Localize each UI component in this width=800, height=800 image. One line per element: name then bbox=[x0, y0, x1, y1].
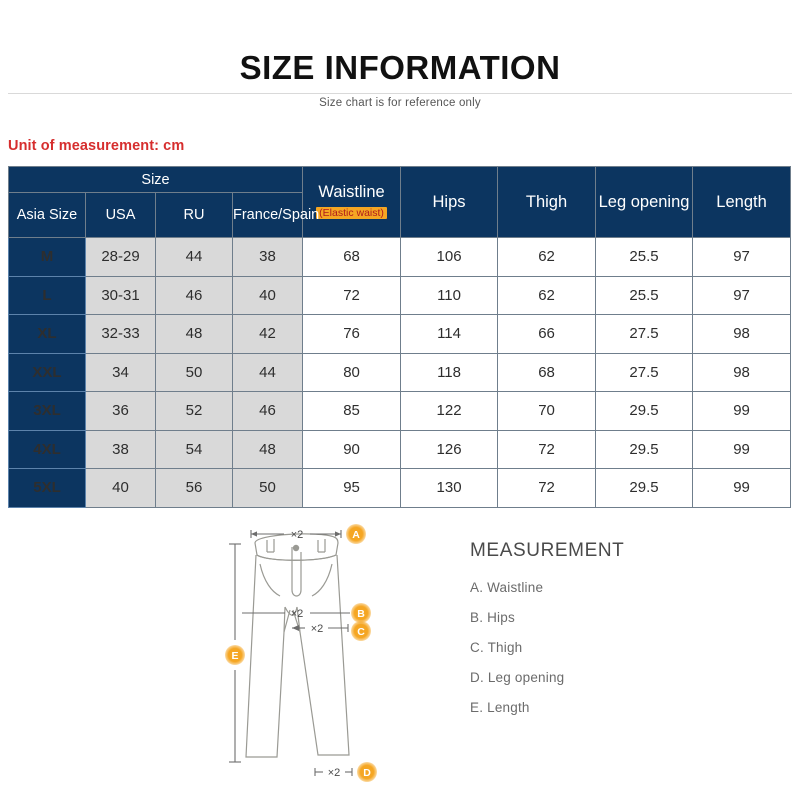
header-waistline: Waistline (Elastic waist) bbox=[303, 167, 401, 238]
cell-thigh: 72 bbox=[498, 469, 596, 508]
cell-usa: 36 bbox=[86, 392, 156, 431]
badge-c-label: C bbox=[357, 626, 365, 638]
cell-waistline: 85 bbox=[303, 392, 401, 431]
cell-france-spain: 46 bbox=[233, 392, 303, 431]
header-hips: Hips bbox=[401, 167, 498, 238]
pants-measurement-diagram: ×2 ×2 ×2 ×2 bbox=[222, 512, 422, 800]
unit-of-measurement-note: Unit of measurement: cm bbox=[8, 138, 184, 154]
cell-hips: 130 bbox=[401, 469, 498, 508]
elastic-waist-badge: (Elastic waist) bbox=[316, 207, 387, 219]
badge-b-label: B bbox=[357, 608, 365, 620]
cell-leg-opening: 25.5 bbox=[596, 238, 693, 277]
title-divider bbox=[8, 93, 792, 94]
header-length: Length bbox=[693, 167, 791, 238]
cell-ru: 54 bbox=[156, 430, 233, 469]
dimension-label-d: ×2 bbox=[328, 767, 341, 779]
table-row: L30-314640721106225.597 bbox=[9, 276, 791, 315]
cell-waistline: 76 bbox=[303, 315, 401, 354]
header-leg-opening: Leg opening bbox=[596, 167, 693, 238]
cell-thigh: 68 bbox=[498, 353, 596, 392]
cell-length: 98 bbox=[693, 353, 791, 392]
cell-asia-size: XL bbox=[9, 315, 86, 354]
legend-item-leg-opening: D. Leg opening bbox=[470, 670, 780, 685]
cell-length: 98 bbox=[693, 315, 791, 354]
cell-leg-opening: 25.5 bbox=[596, 276, 693, 315]
dimension-label-c: ×2 bbox=[311, 623, 324, 635]
header-asia-size: Asia Size bbox=[9, 193, 86, 238]
cell-ru: 50 bbox=[156, 353, 233, 392]
cell-length: 97 bbox=[693, 238, 791, 277]
cell-usa: 38 bbox=[86, 430, 156, 469]
cell-length: 99 bbox=[693, 469, 791, 508]
table-row: 4XL385448901267229.599 bbox=[9, 430, 791, 469]
header-ru: RU bbox=[156, 193, 233, 238]
table-header: Size Waistline (Elastic waist) Hips Thig… bbox=[9, 167, 791, 238]
size-information-page: SIZE INFORMATION Size chart is for refer… bbox=[0, 0, 800, 800]
cell-leg-opening: 27.5 bbox=[596, 353, 693, 392]
cell-thigh: 70 bbox=[498, 392, 596, 431]
cell-asia-size: M bbox=[9, 238, 86, 277]
cell-france-spain: 38 bbox=[233, 238, 303, 277]
table-body: M28-294438681066225.597L30-3146407211062… bbox=[9, 238, 791, 508]
cell-length: 99 bbox=[693, 430, 791, 469]
cell-hips: 110 bbox=[401, 276, 498, 315]
cell-asia-size: L bbox=[9, 276, 86, 315]
cell-thigh: 62 bbox=[498, 276, 596, 315]
cell-asia-size: 5XL bbox=[9, 469, 86, 508]
title-block: SIZE INFORMATION bbox=[0, 48, 800, 88]
cell-hips: 114 bbox=[401, 315, 498, 354]
cell-asia-size: 4XL bbox=[9, 430, 86, 469]
dimension-label-b: ×2 bbox=[291, 608, 304, 620]
pants-outline bbox=[246, 534, 349, 757]
waistband-button-icon bbox=[293, 545, 299, 551]
cell-thigh: 62 bbox=[498, 238, 596, 277]
table-row: XXL345044801186827.598 bbox=[9, 353, 791, 392]
legend-item-thigh: C. Thigh bbox=[470, 640, 780, 655]
legend-title: MEASUREMENT bbox=[470, 540, 780, 562]
legend-item-length: E. Length bbox=[470, 700, 780, 715]
pants-diagram-svg: ×2 ×2 ×2 ×2 bbox=[222, 512, 422, 800]
table-header-row-group: Size Waistline (Elastic waist) Hips Thig… bbox=[9, 167, 791, 193]
cell-ru: 44 bbox=[156, 238, 233, 277]
cell-france-spain: 48 bbox=[233, 430, 303, 469]
cell-hips: 106 bbox=[401, 238, 498, 277]
cell-ru: 56 bbox=[156, 469, 233, 508]
badge-e-label: E bbox=[231, 650, 238, 662]
table-row: XL32-334842761146627.598 bbox=[9, 315, 791, 354]
dimension-label-a: ×2 bbox=[291, 529, 304, 541]
cell-ru: 46 bbox=[156, 276, 233, 315]
cell-usa: 34 bbox=[86, 353, 156, 392]
cell-length: 97 bbox=[693, 276, 791, 315]
cell-leg-opening: 29.5 bbox=[596, 469, 693, 508]
header-waistline-label: Waistline bbox=[303, 183, 400, 202]
measurement-legend: MEASUREMENT A. Waistline B. Hips C. Thig… bbox=[470, 540, 780, 730]
page-title: SIZE INFORMATION bbox=[226, 48, 575, 88]
cell-france-spain: 40 bbox=[233, 276, 303, 315]
header-usa: USA bbox=[86, 193, 156, 238]
cell-thigh: 72 bbox=[498, 430, 596, 469]
cell-hips: 122 bbox=[401, 392, 498, 431]
cell-hips: 126 bbox=[401, 430, 498, 469]
legend-item-hips: B. Hips bbox=[470, 610, 780, 625]
cell-waistline: 68 bbox=[303, 238, 401, 277]
cell-leg-opening: 29.5 bbox=[596, 392, 693, 431]
cell-asia-size: 3XL bbox=[9, 392, 86, 431]
cell-thigh: 66 bbox=[498, 315, 596, 354]
cell-ru: 52 bbox=[156, 392, 233, 431]
cell-length: 99 bbox=[693, 392, 791, 431]
cell-france-spain: 50 bbox=[233, 469, 303, 508]
header-france-spain: France/Spain bbox=[233, 193, 303, 238]
cell-usa: 32-33 bbox=[86, 315, 156, 354]
badge-a-label: A bbox=[352, 529, 360, 541]
table-row: 3XL365246851227029.599 bbox=[9, 392, 791, 431]
cell-ru: 48 bbox=[156, 315, 233, 354]
header-thigh: Thigh bbox=[498, 167, 596, 238]
legend-item-waistline: A. Waistline bbox=[470, 580, 780, 595]
table-row: 5XL405650951307229.599 bbox=[9, 469, 791, 508]
header-size-group: Size bbox=[9, 167, 303, 193]
cell-france-spain: 42 bbox=[233, 315, 303, 354]
cell-waistline: 72 bbox=[303, 276, 401, 315]
cell-usa: 30-31 bbox=[86, 276, 156, 315]
size-chart-table: Size Waistline (Elastic waist) Hips Thig… bbox=[8, 166, 791, 508]
cell-leg-opening: 29.5 bbox=[596, 430, 693, 469]
cell-waistline: 80 bbox=[303, 353, 401, 392]
cell-waistline: 90 bbox=[303, 430, 401, 469]
cell-waistline: 95 bbox=[303, 469, 401, 508]
badge-d-label: D bbox=[363, 767, 371, 779]
cell-hips: 118 bbox=[401, 353, 498, 392]
page-subtitle: Size chart is for reference only bbox=[0, 97, 800, 109]
table-row: M28-294438681066225.597 bbox=[9, 238, 791, 277]
cell-france-spain: 44 bbox=[233, 353, 303, 392]
cell-asia-size: XXL bbox=[9, 353, 86, 392]
cell-usa: 28-29 bbox=[86, 238, 156, 277]
cell-leg-opening: 27.5 bbox=[596, 315, 693, 354]
cell-usa: 40 bbox=[86, 469, 156, 508]
